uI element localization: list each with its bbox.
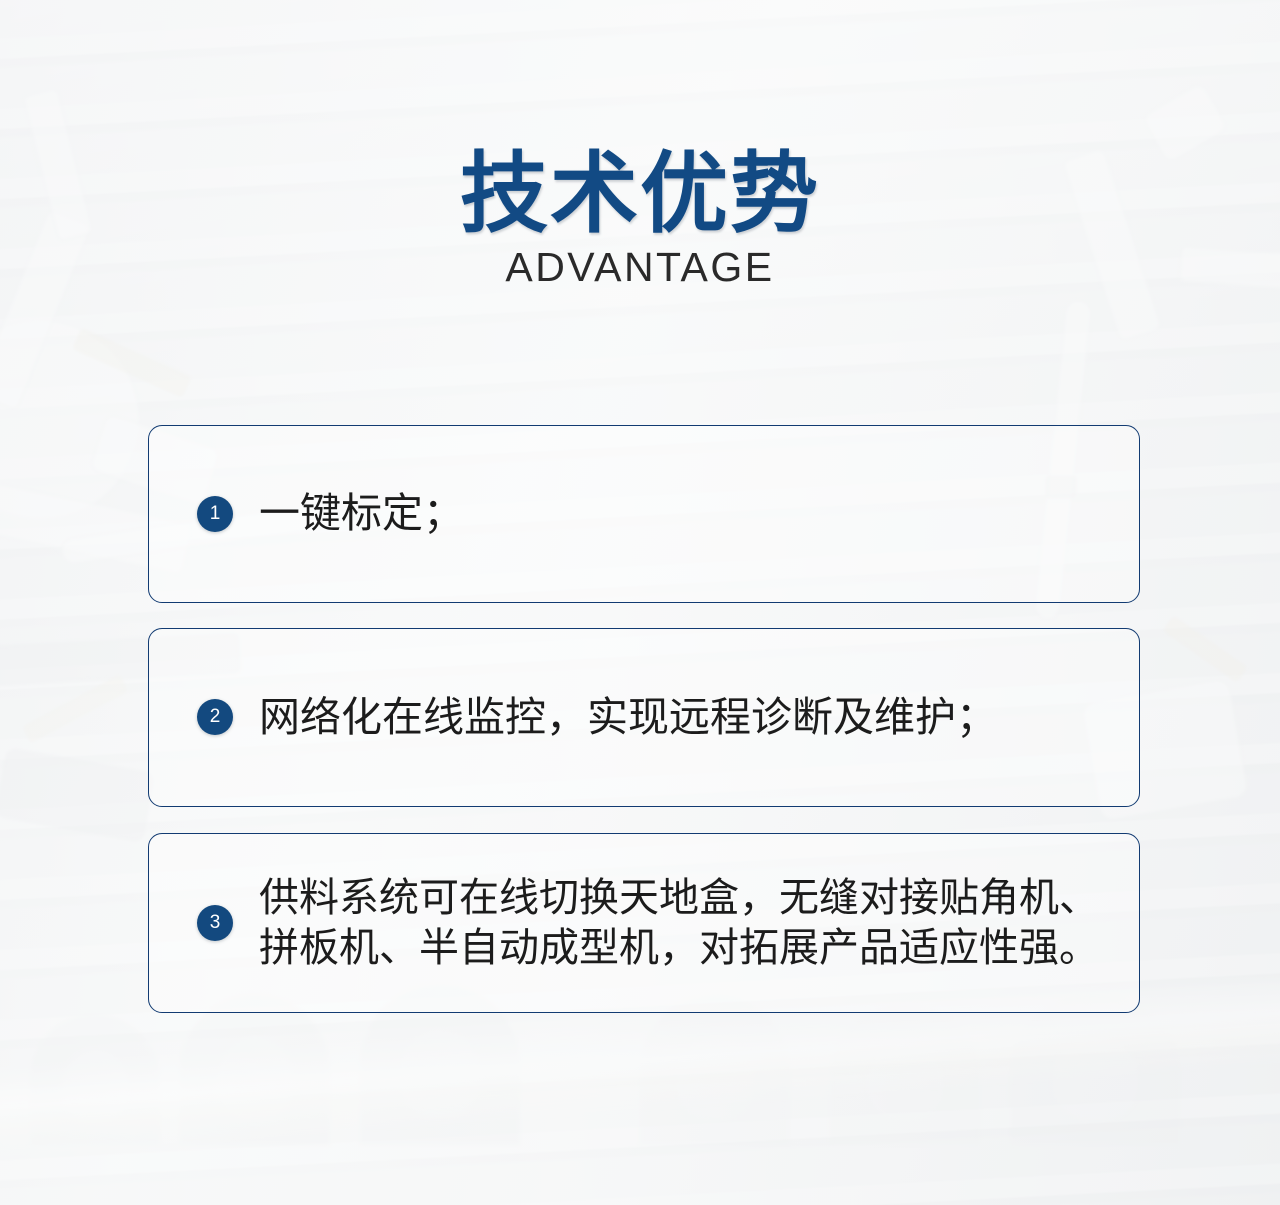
page-content: 技术优势 ADVANTAGE 1 一键标定； 2 网络化在线监控，实现远程诊断及… (0, 0, 1280, 1205)
advantage-card-3[interactable]: 3 供料系统可在线切换天地盒，无缝对接贴角机、 拼板机、半自动成型机，对拓展产品… (148, 833, 1140, 1013)
advantage-text-1: 一键标定； (259, 487, 464, 540)
page-subtitle: ADVANTAGE (0, 246, 1280, 289)
advantage-text-3: 供料系统可在线切换天地盒，无缝对接贴角机、 拼板机、半自动成型机，对拓展产品适应… (259, 873, 1099, 974)
advantage-card-2-inner: 2 网络化在线监控，实现远程诊断及维护； (149, 691, 1139, 744)
advantage-card-2[interactable]: 2 网络化在线监控，实现远程诊断及维护； (148, 628, 1140, 807)
advantage-number-badge-1: 1 (197, 496, 233, 532)
advantage-number-badge-2: 2 (197, 699, 233, 735)
advantage-card-1-inner: 1 一键标定； (149, 487, 1139, 540)
advantage-text-2: 网络化在线监控，实现远程诊断及维护； (259, 691, 997, 744)
page-title: 技术优势 (0, 150, 1280, 238)
advantage-card-1[interactable]: 1 一键标定； (148, 425, 1140, 603)
advantage-card-3-inner: 3 供料系统可在线切换天地盒，无缝对接贴角机、 拼板机、半自动成型机，对拓展产品… (149, 873, 1139, 974)
advantage-number-badge-3: 3 (197, 905, 233, 941)
section-heading: 技术优势 ADVANTAGE (0, 150, 1280, 289)
